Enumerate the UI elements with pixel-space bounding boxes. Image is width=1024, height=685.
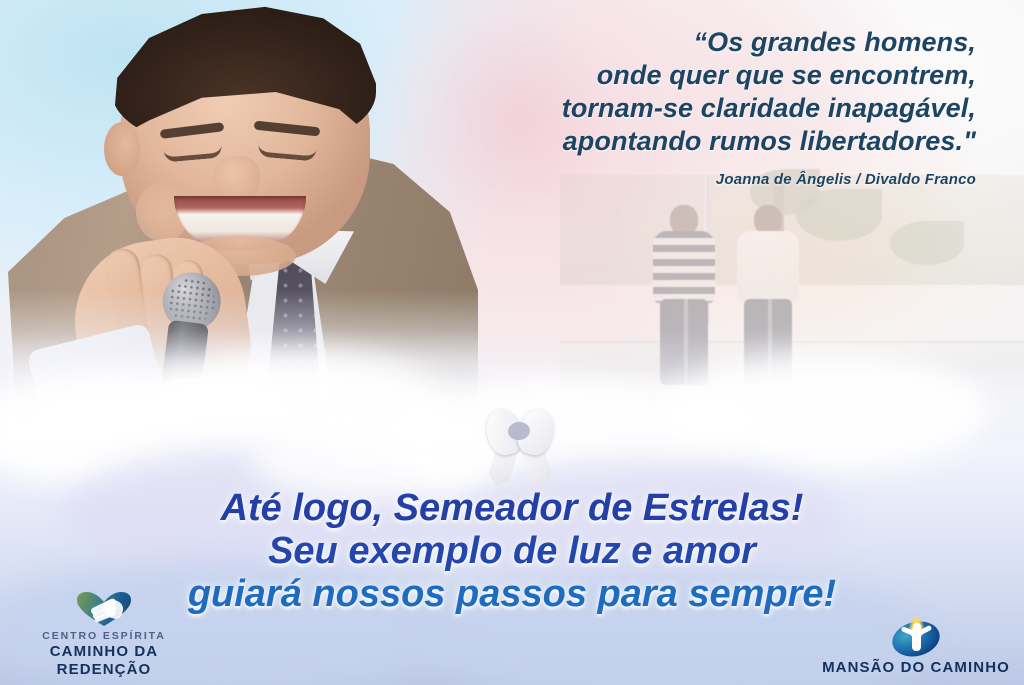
two-men-walking-faded-photo bbox=[560, 175, 1024, 425]
quote-block: “Os grandes homens, onde quer que se enc… bbox=[416, 26, 976, 188]
ear bbox=[104, 122, 140, 176]
quote-attribution: Joanna de Ângelis / Divaldo Franco bbox=[416, 171, 976, 188]
white-mourning-ribbon bbox=[487, 409, 553, 487]
hands-heart-icon bbox=[77, 592, 131, 626]
palm-foliage bbox=[890, 221, 964, 265]
divaldo-franco-portrait bbox=[8, 4, 478, 434]
left-logo-line-1: CENTRO ESPÍRITA bbox=[6, 630, 202, 643]
left-logo-line-2: CAMINHO DA REDENÇÃO bbox=[6, 643, 202, 679]
quote-line-1: “Os grandes homens, bbox=[416, 26, 976, 59]
headline-line-1: Até logo, Semeador de Estrelas! bbox=[0, 487, 1024, 530]
wall bbox=[560, 341, 1024, 373]
logo-centro-espirita-caminho-da-redencao: CENTRO ESPÍRITA CAMINHO DA REDENÇÃO bbox=[6, 592, 202, 679]
headline-line-2: Seu exemplo de luz e amor bbox=[0, 530, 1024, 573]
quote-line-2: onde quer que se encontrem, bbox=[416, 59, 976, 92]
quote-line-3: tornam-se claridade inapagável, bbox=[416, 92, 976, 125]
quote-line-4: apontando rumos libertadores." bbox=[416, 125, 976, 158]
memorial-poster: “Os grandes homens, onde quer que se enc… bbox=[0, 0, 1024, 685]
tree-foliage bbox=[796, 189, 882, 241]
ground bbox=[560, 373, 1024, 425]
portrait-fade-overlay bbox=[8, 290, 478, 440]
right-logo-line-1: MANSÃO DO CAMINHO bbox=[816, 659, 1016, 677]
globe-figure-icon bbox=[892, 616, 940, 656]
logo-mansao-do-caminho: MANSÃO DO CAMINHO bbox=[816, 616, 1016, 677]
